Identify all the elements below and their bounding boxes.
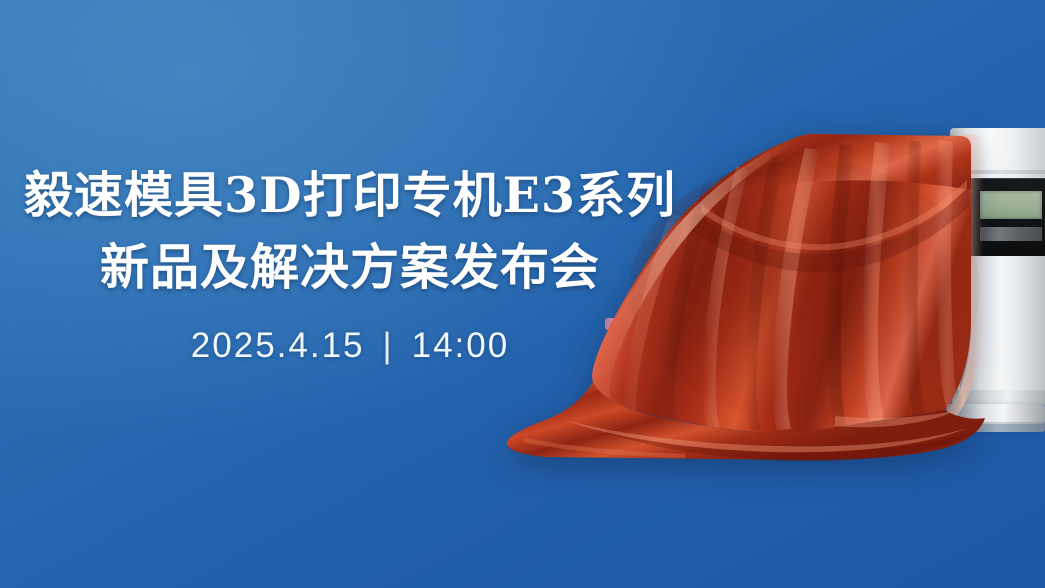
datetime-separator: | [383,326,394,366]
page-title-line-2: 新品及解决方案发布会 [0,232,700,302]
event-date: 2025.4.15 [191,326,365,365]
event-datetime: 2025.4.15|14:00 [0,326,700,366]
page-title-line-1: 毅速模具3D打印专机E3系列 [0,160,700,230]
text-block: 毅速模具3D打印专机E3系列 新品及解决方案发布会 2025.4.15|14:0… [0,160,700,366]
promo-banner: 毅速模具3D打印专机E3系列 新品及解决方案发布会 2025.4.15|14:0… [0,0,1045,588]
event-time: 14:00 [412,326,510,365]
